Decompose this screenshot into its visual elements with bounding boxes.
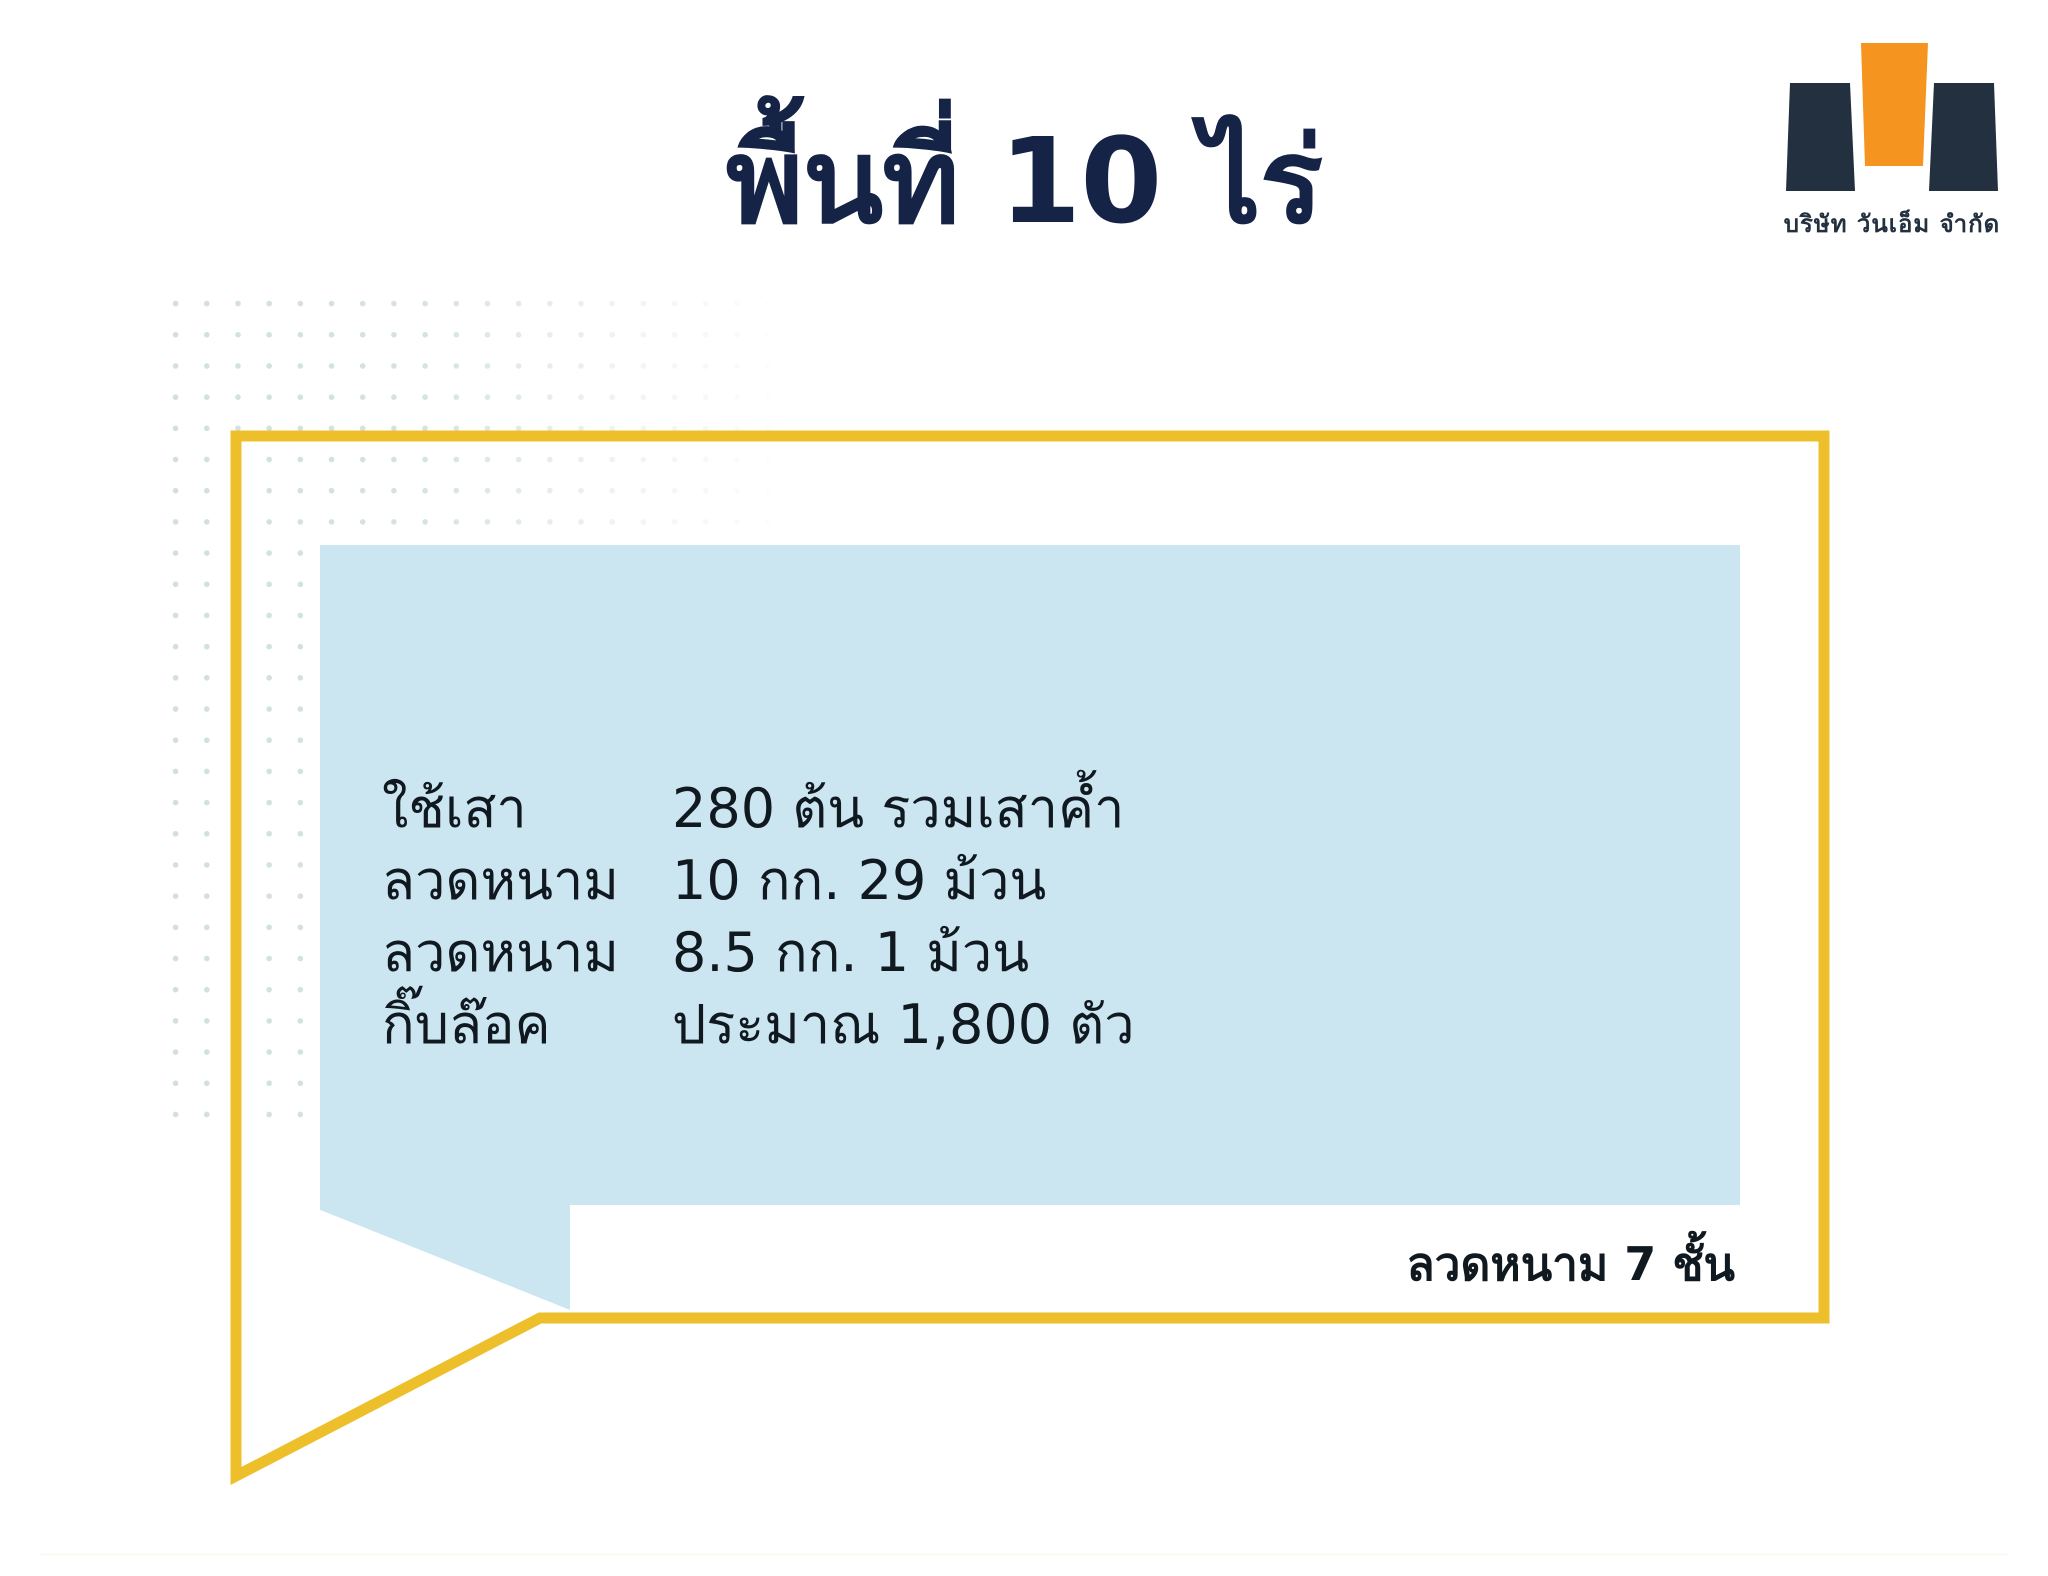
info-row: กิ๊บล๊อค ประมาณ 1,800 ตัว [382, 994, 1362, 1066]
logo-bar-left [1786, 83, 1855, 191]
info-table: ใช้เสา 280 ต้น รวมเสาค้ำ ลวดหนาม 10 กก. … [382, 778, 1362, 1066]
info-label: กิ๊บล๊อค [382, 994, 672, 1056]
info-label: ลวดหนาม [382, 922, 672, 984]
logo-bar-right [1929, 83, 1998, 191]
info-value: ประมาณ 1,800 ตัว [672, 994, 1135, 1056]
info-row: ลวดหนาม 8.5 กก. 1 ม้วน [382, 922, 1362, 994]
footer-divider [40, 1553, 2008, 1556]
info-label: ใช้เสา [382, 778, 672, 840]
info-value: 8.5 กก. 1 ม้วน [672, 922, 1029, 984]
logo-bar-center [1861, 43, 1928, 166]
info-value: 10 กก. 29 ม้วน [672, 850, 1046, 912]
slide-canvas: ใช้เสา 280 ต้น รวมเสาค้ำ ลวดหนาม 10 กก. … [0, 0, 2048, 1576]
info-value: 280 ต้น รวมเสาค้ำ [672, 778, 1125, 840]
info-row: ใช้เสา 280 ต้น รวมเสาค้ำ [382, 778, 1362, 850]
info-row: ลวดหนาม 10 กก. 29 ม้วน [382, 850, 1362, 922]
info-label: ลวดหนาม [382, 850, 672, 912]
bubble-caption: ลวดหนาม 7 ชั้น [1000, 1228, 1735, 1301]
company-logo: บริษัท วันเอ็ม จำกัด [1758, 26, 2026, 258]
logo-mark-icon [1758, 26, 2026, 201]
page-title: พื้นที่ 10 ไร่ [0, 120, 2048, 244]
logo-caption: บริษัท วันเอ็ม จำกัด [1758, 204, 2026, 243]
